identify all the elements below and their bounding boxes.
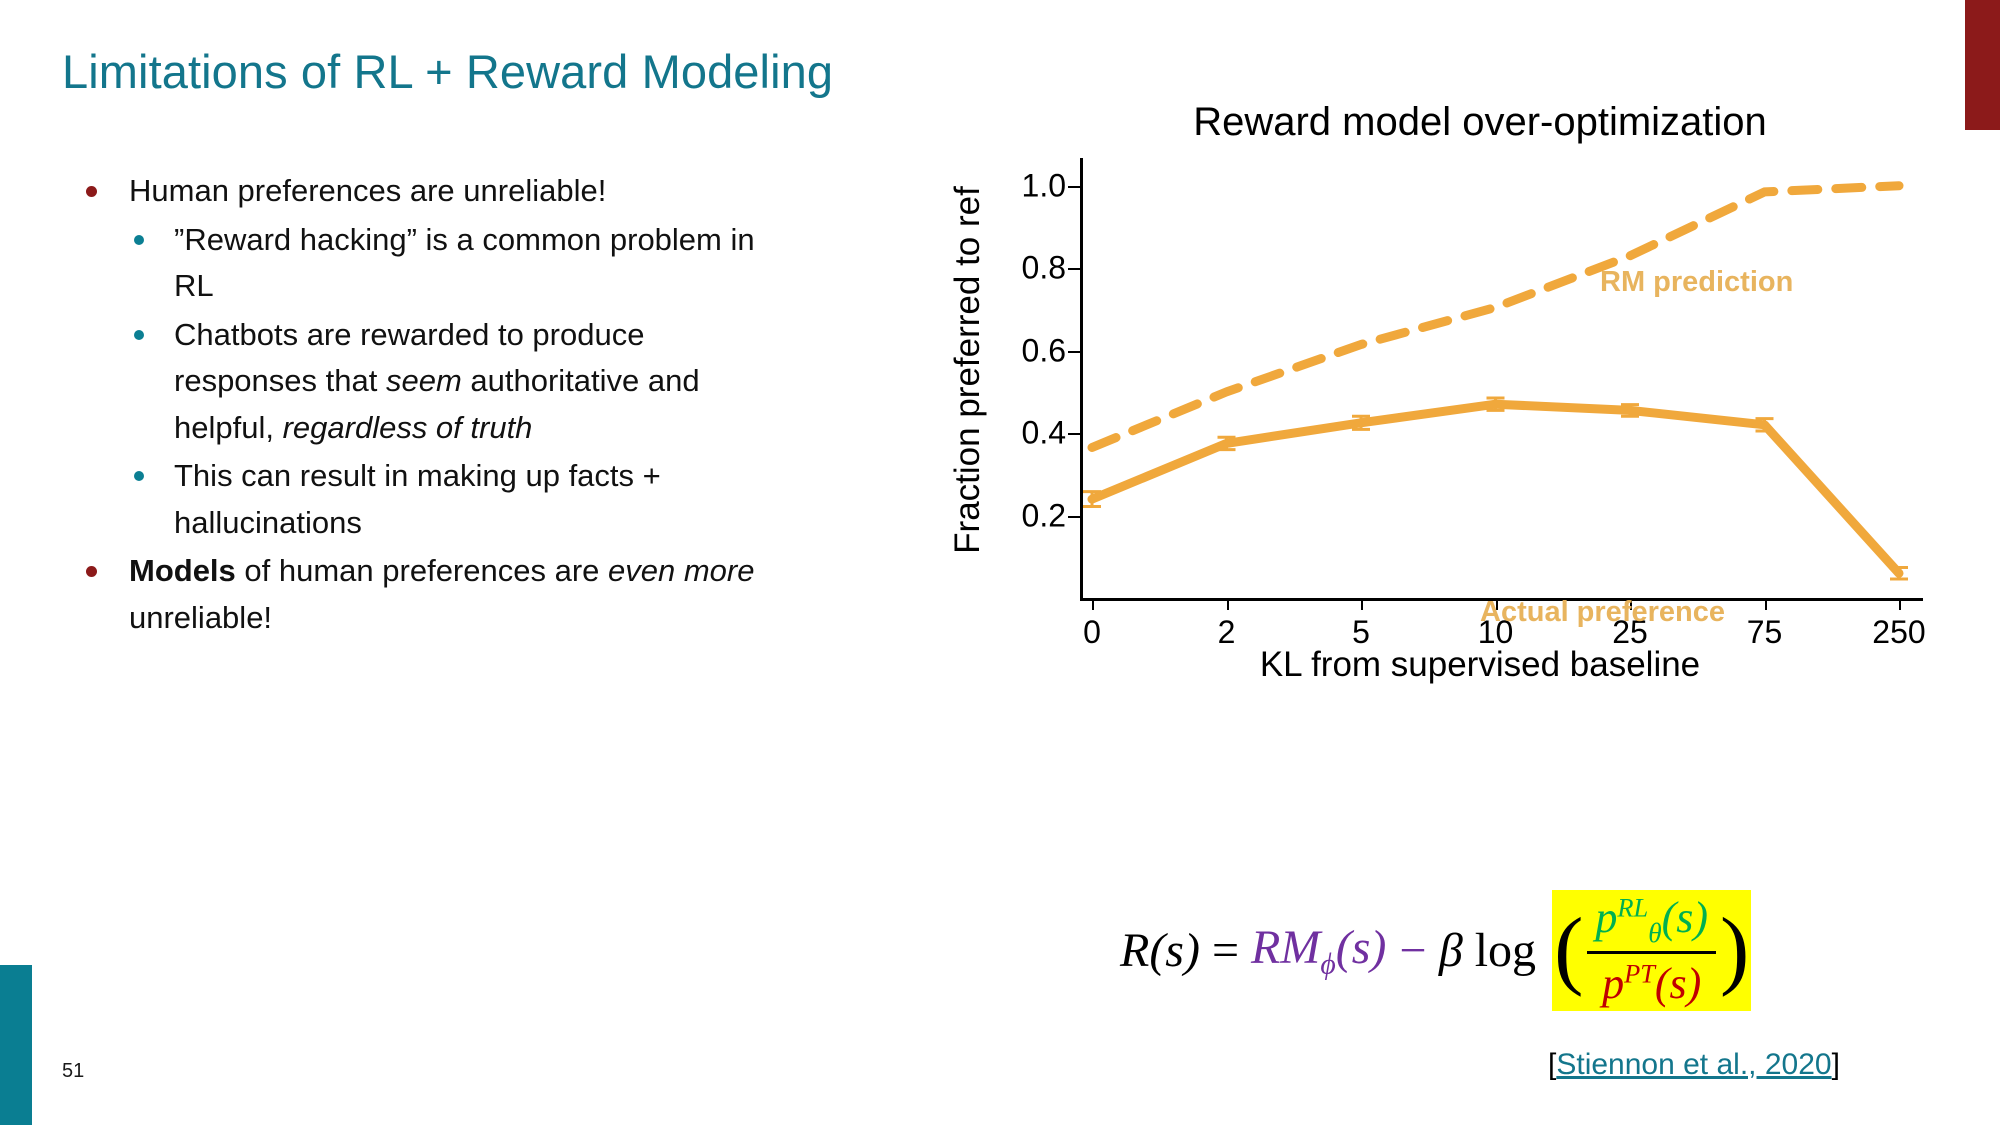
chart-y-tick [1068,186,1080,188]
list-item-text: Models of human preferences are even mor… [129,548,762,641]
equation-paren-close: ) [1720,913,1749,988]
bottom-left-accent-bar [0,965,32,1125]
list-item-text: Chatbots are rewarded to produce respons… [174,312,762,452]
chart-y-tick-label: 0.2 [1022,497,1066,534]
bullet-dot-icon [86,186,97,197]
chart-y-tick-label: 0.8 [1022,250,1066,287]
equation-rm-term: RMϕ(s) [1251,920,1386,982]
citation-link[interactable]: Stiennon et al., 2020 [1556,1048,1831,1081]
bullet-dot-icon [134,235,144,245]
list-item: ”Reward hacking” is a common problem in … [72,217,762,310]
series-label-rm-prediction: RM prediction [1600,266,1793,299]
bullet-dot-icon [86,566,97,577]
equation-equals: = [1200,923,1251,978]
top-right-accent-bar [1965,0,2000,130]
list-item-text: This can result in making up facts + hal… [174,453,762,546]
citation-close-bracket: ] [1832,1048,1840,1081]
reward-equation: R(s) = RMϕ(s) − β log ( pRLθ(s) pPT(s) ) [1120,890,1751,1011]
bullet-dot-icon [134,471,144,481]
equation-numerator: pRLθ(s) [1587,892,1716,951]
chart-x-tick-label: 250 [1872,614,1925,651]
equation-denominator: pPT(s) [1594,954,1709,1009]
chart-x-tick-label: 75 [1747,614,1783,651]
series-label-actual-preference: Actual preference [1480,596,1725,629]
equation-paren-open: ( [1554,913,1583,988]
chart-y-tick [1068,516,1080,518]
chart-y-axis-label: Fraction preferred to ref [948,120,988,620]
list-item: This can result in making up facts + hal… [72,453,762,546]
list-item-text: Human preferences are unreliable! [129,168,606,215]
list-item-text: ”Reward hacking” is a common problem in … [174,217,762,310]
chart-x-tick-label: 2 [1218,614,1236,651]
chart-y-tick [1068,433,1080,435]
chart-y-tick-label: 0.6 [1022,332,1066,369]
equation-fraction: pRLθ(s) pPT(s) [1587,892,1716,1009]
citation: [Stiennon et al., 2020] [1548,1048,1840,1082]
list-item: Human preferences are unreliable! [72,168,762,215]
bullet-dot-icon [134,330,144,340]
equation-lhs: R(s) [1120,923,1200,978]
chart-plot-area: 0.20.40.60.81.0 025102575250 RM predicti… [1080,158,1920,598]
page-title: Limitations of RL + Reward Modeling [62,44,833,99]
chart-y-tick-label: 0.4 [1022,415,1066,452]
equation-log: log [1463,923,1542,978]
chart-series-svg [1080,158,1923,601]
list-item: Models of human preferences are even mor… [72,548,762,641]
equation-beta: β [1439,923,1463,978]
chart-series-line-2 [1092,404,1899,573]
equation-log-argument: ( pRLθ(s) pPT(s) ) [1552,890,1751,1011]
chart-x-tick-label: 0 [1083,614,1101,651]
list-item: Chatbots are rewarded to produce respons… [72,312,762,452]
chart-title: Reward model over-optimization [940,100,1970,145]
reward-overoptimization-chart: Reward model over-optimization Fraction … [940,100,1970,720]
chart-y-tick [1068,268,1080,270]
chart-x-tick-label: 5 [1352,614,1370,651]
chart-y-tick-label: 1.0 [1022,167,1066,204]
bullet-list: Human preferences are unreliable! ”Rewar… [72,168,762,643]
equation-minus: − [1386,923,1438,978]
slide-number: 51 [62,1060,84,1083]
chart-x-axis-label: KL from supervised baseline [1030,645,1930,685]
chart-y-tick [1068,351,1080,353]
